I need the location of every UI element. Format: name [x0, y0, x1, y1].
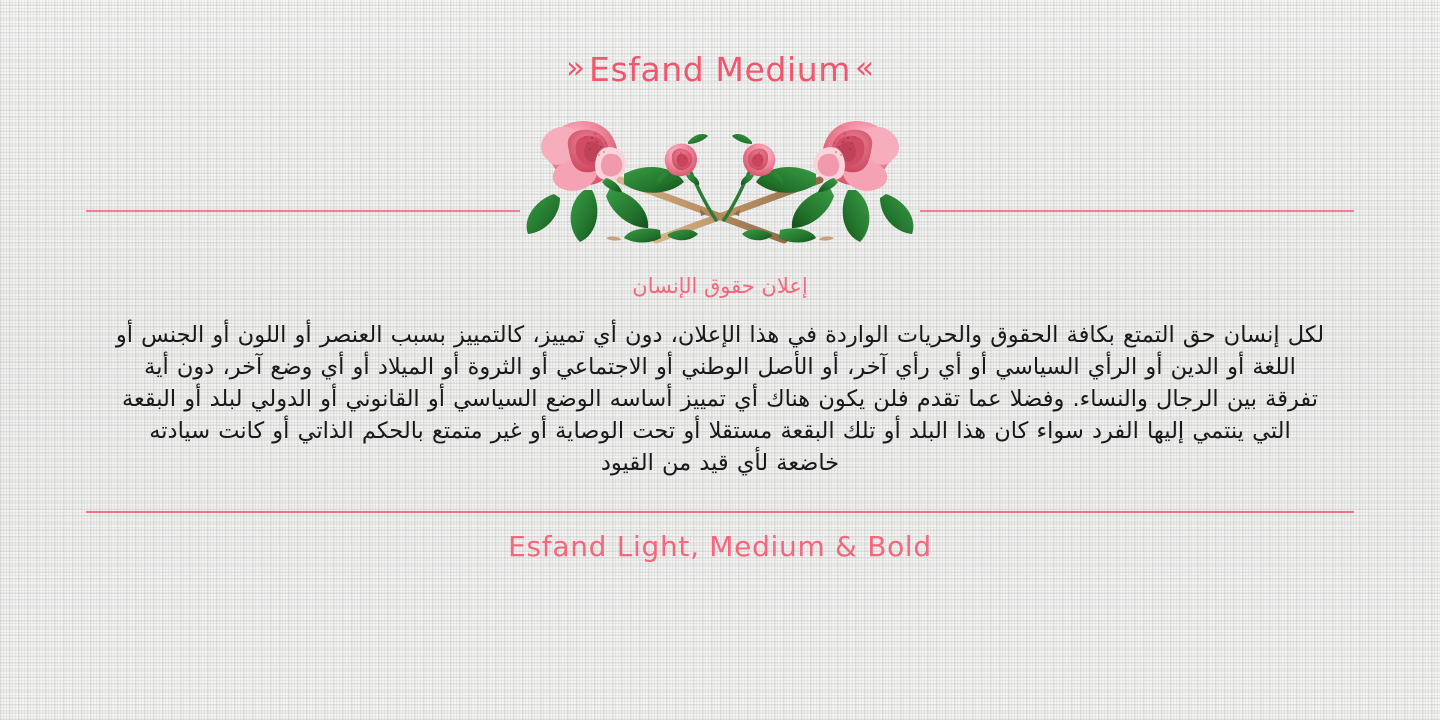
divider-bottom [86, 511, 1354, 513]
left-guillemet-icon: » [566, 53, 585, 84]
body-paragraph: لكل إنسان حق التمتع بكافة الحقوق والحريا… [115, 319, 1325, 479]
footer-caption: Esfand Light, Medium & Bold [508, 533, 932, 561]
ornament-band [0, 102, 1440, 252]
divider-right [920, 210, 1354, 212]
divider-left [86, 210, 520, 212]
subtitle: إعلان حقوق الإنسان [632, 274, 807, 299]
twin-roses-ornament-icon [520, 102, 920, 252]
page-title-text: Esfand Medium [589, 53, 851, 86]
page-title: » Esfand Medium « [566, 44, 874, 94]
specimen-page: » Esfand Medium « [0, 0, 1440, 720]
right-guillemet-icon: « [855, 53, 874, 84]
